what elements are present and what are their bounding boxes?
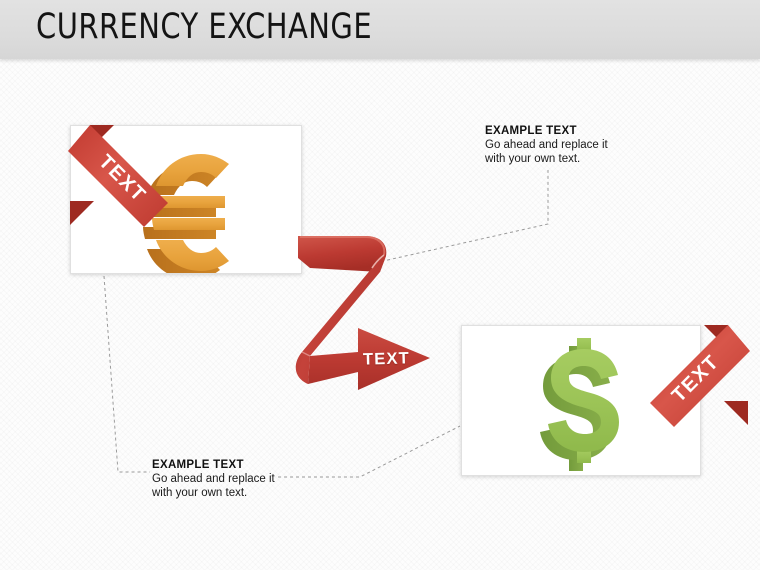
ribbon-fold-left	[70, 201, 94, 225]
ribbon-euro[interactable]: TEXT	[58, 113, 228, 283]
callout-bottom-body-line-2: with your own text.	[152, 487, 337, 501]
slide-canvas: CURRENCY EXCHANGE	[0, 0, 760, 570]
callout-top-title: EXAMPLE TEXT	[485, 124, 670, 138]
callout-top-body-line-2: with your own text.	[485, 153, 670, 167]
header-bar: CURRENCY EXCHANGE	[0, 0, 760, 59]
arrow-connector[interactable]	[280, 228, 490, 408]
ribbon-fold-right	[724, 401, 748, 425]
callout-top-body-line-1: Go ahead and replace it	[485, 139, 670, 153]
arrow-label: TEXT	[363, 349, 410, 369]
callout-bottom-body-line-1: Go ahead and replace it	[152, 473, 337, 487]
page-title: CURRENCY EXCHANGE	[36, 7, 372, 47]
leader-line-left	[104, 276, 150, 472]
ribbon-dollar[interactable]: TEXT	[590, 313, 760, 483]
callout-top: EXAMPLE TEXT Go ahead and replace it wit…	[485, 124, 670, 166]
callout-bottom-title: EXAMPLE TEXT	[152, 458, 337, 472]
callout-bottom: EXAMPLE TEXT Go ahead and replace it wit…	[152, 458, 337, 500]
